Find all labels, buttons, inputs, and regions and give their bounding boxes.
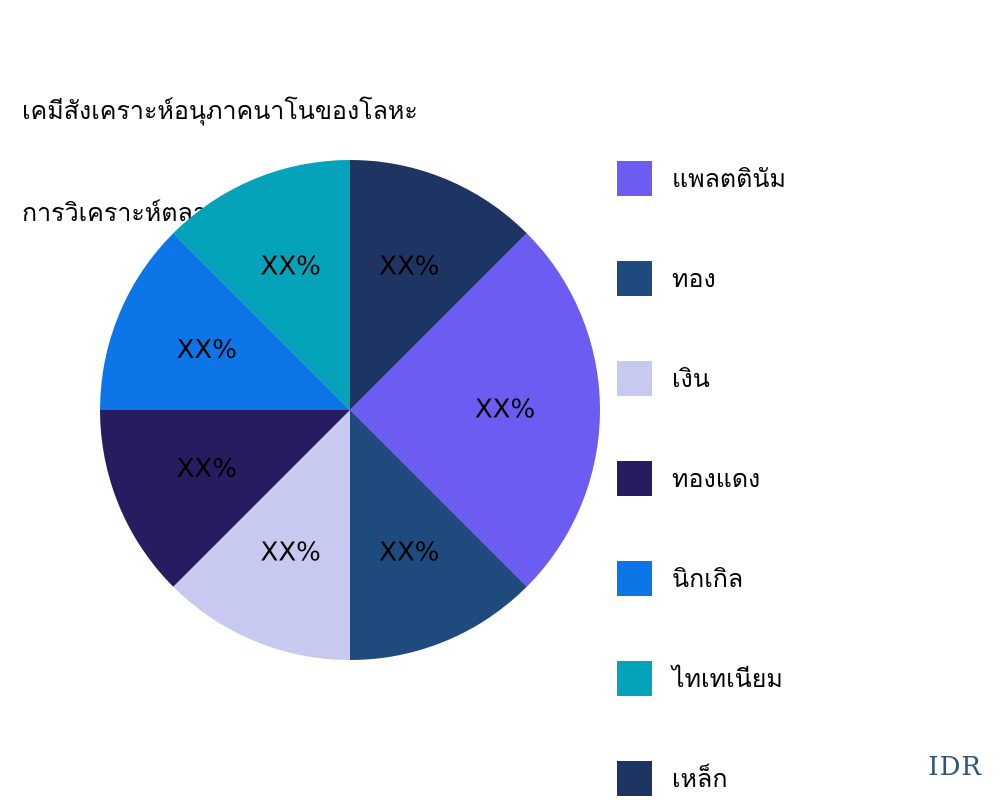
title-line-1: เคมีสังเคราะห์อนุภาคนาโนของโลหะ <box>22 94 622 128</box>
legend-swatch <box>617 761 652 796</box>
pie-slice-label: XX% <box>379 251 439 281</box>
legend-item[interactable]: นิกเกิล <box>617 560 743 596</box>
legend-label: ไทเทเนียม <box>672 661 783 696</box>
watermark: IDR <box>928 752 982 782</box>
pie-slice-label: XX% <box>261 251 321 281</box>
legend-item[interactable]: ไทเทเนียม <box>617 660 783 696</box>
pie-slice-label: XX% <box>379 538 439 568</box>
legend-item[interactable]: ทอง <box>617 260 716 296</box>
chart-root: เคมีสังเคราะห์อนุภาคนาโนของโลหะ การวิเคร… <box>0 0 1000 800</box>
pie-chart: XX%XX%XX%XX%XX%XX%XX% <box>100 160 600 660</box>
pie-slice-label: XX% <box>261 538 321 568</box>
pie-slice-label: XX% <box>475 395 535 425</box>
legend-label: แพลตตินัม <box>672 161 786 196</box>
legend-swatch <box>617 161 652 196</box>
legend-label: เงิน <box>672 361 710 396</box>
legend-item[interactable]: แพลตตินัม <box>617 160 786 196</box>
pie-slice-label: XX% <box>177 335 237 365</box>
legend-swatch <box>617 361 652 396</box>
legend-item[interactable]: ทองแดง <box>617 460 760 496</box>
legend-item[interactable]: เงิน <box>617 360 710 396</box>
legend-label: นิกเกิล <box>672 561 743 596</box>
legend-label: ทอง <box>672 261 716 296</box>
legend-swatch <box>617 661 652 696</box>
pie-chart-svg: XX%XX%XX%XX%XX%XX%XX% <box>100 160 600 660</box>
legend-label: ทองแดง <box>672 461 760 496</box>
legend-swatch <box>617 461 652 496</box>
legend-label: เหล็ก <box>672 761 727 796</box>
legend-swatch <box>617 561 652 596</box>
pie-slice-label: XX% <box>177 454 237 484</box>
legend: แพลตตินัมทองเงินทองแดงนิกเกิลไทเทเนียมเห… <box>617 160 987 800</box>
legend-item[interactable]: เหล็ก <box>617 760 727 796</box>
legend-swatch <box>617 261 652 296</box>
